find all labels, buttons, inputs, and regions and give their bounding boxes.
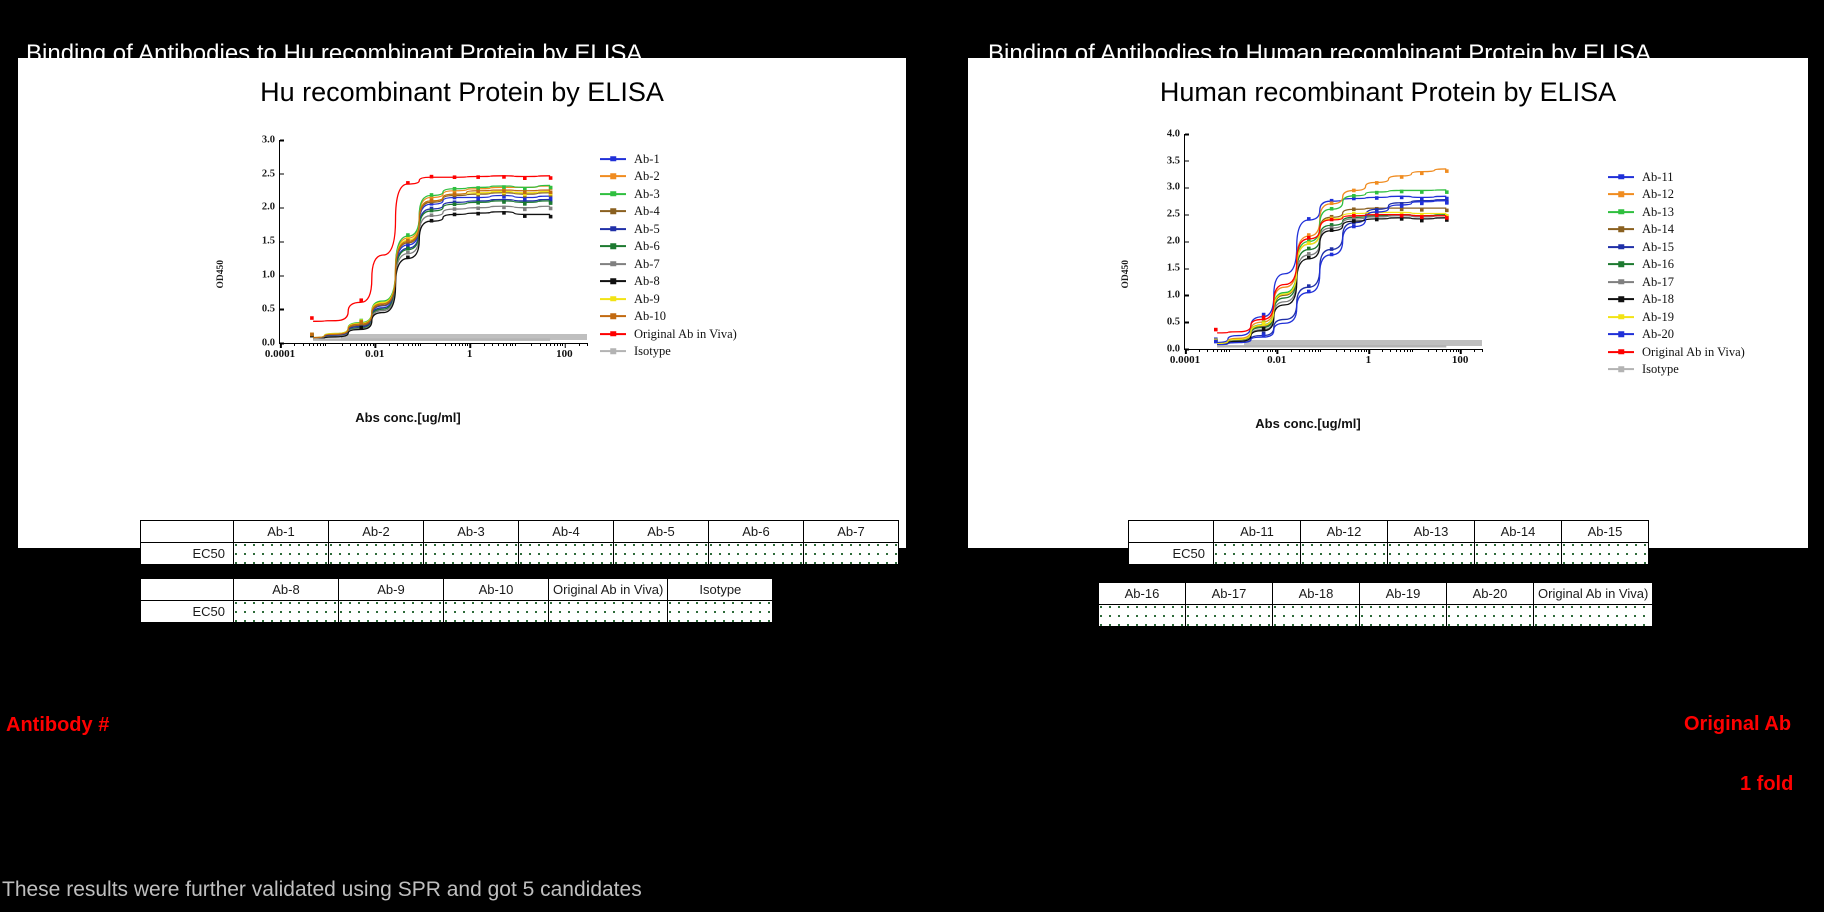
ec50-value-cell (1214, 543, 1301, 565)
data-point (502, 175, 506, 179)
x-minor-tick (1390, 349, 1391, 352)
data-point (1307, 284, 1311, 288)
legend-right: Ab-11Ab-12Ab-13Ab-14Ab-15Ab-16Ab-17Ab-18… (1608, 168, 1745, 378)
legend-label: Ab-1 (634, 153, 660, 166)
ec50-table: Ab-16Ab-17Ab-18Ab-19Ab-20Original Ab in … (1098, 582, 1653, 627)
data-point (1352, 207, 1356, 211)
table-header-cell: Ab-17 (1186, 583, 1273, 605)
x-minor-tick (1318, 349, 1319, 352)
table-header-row: Ab-1Ab-2Ab-3Ab-4Ab-5Ab-6Ab-7 (141, 521, 899, 543)
legend-label: Ab-17 (1642, 276, 1674, 289)
data-point (310, 332, 314, 336)
x-minor-tick (323, 343, 324, 346)
table-header-cell: Ab-18 (1273, 583, 1360, 605)
legend-item[interactable]: Isotype (600, 343, 737, 361)
table-value-row: EC50 (141, 601, 773, 623)
legend-label: Ab-5 (634, 223, 660, 236)
data-point (1400, 214, 1404, 218)
y-tick-label: 2.5 (262, 168, 280, 179)
x-axis-label-right: Abs conc.[ug/ml] (1255, 416, 1360, 431)
data-point (453, 212, 457, 216)
legend-item[interactable]: Ab-17 (1608, 273, 1745, 291)
legend-marker-icon (1608, 278, 1634, 286)
legend-label: Original Ab in Viva) (1642, 346, 1745, 359)
x-minor-tick (1336, 349, 1337, 352)
legend-marker-icon (1608, 208, 1634, 216)
x-minor-tick (554, 343, 555, 346)
data-point (359, 298, 363, 302)
legend-marker-icon (1608, 348, 1634, 356)
data-point (1330, 217, 1334, 221)
x-minor-tick (1366, 349, 1367, 352)
table-corner-cell (1129, 521, 1214, 543)
panel-left-title: Hu recombinant Protein by ELISA (18, 58, 906, 108)
table-header-cell: Ab-9 (339, 579, 444, 601)
table-header-cell: Ab-4 (519, 521, 614, 543)
legend-item[interactable]: Ab-16 (1608, 256, 1745, 274)
legend-left: Ab-1Ab-2Ab-3Ab-4Ab-5Ab-6Ab-7Ab-8Ab-9Ab-1… (600, 150, 737, 360)
annotation-original-ab: Original Ab (1684, 713, 1791, 736)
footer-note: These results were further validated usi… (2, 878, 642, 902)
annotation-antibody: Antibody # (6, 714, 109, 737)
data-point (1445, 201, 1449, 205)
legend-item[interactable]: Ab-13 (1608, 203, 1745, 221)
x-minor-tick (1224, 349, 1225, 352)
ec50-value-cell (1534, 605, 1653, 627)
data-point (1375, 196, 1379, 200)
x-minor-tick (350, 343, 351, 346)
data-point (1445, 190, 1449, 194)
x-minor-tick (455, 343, 456, 346)
legend-label: Ab-7 (634, 258, 660, 271)
y-tick-label: 3.5 (1167, 155, 1185, 166)
x-minor-tick (1364, 349, 1365, 352)
legend-marker-icon (600, 295, 626, 303)
series-curve (1217, 214, 1446, 332)
ec50-value-cell (424, 543, 519, 565)
legend-item[interactable]: Ab-1 (600, 150, 737, 168)
legend-item[interactable]: Original Ab in Viva) (600, 325, 737, 343)
legend-label: Original Ab in Viva) (634, 328, 737, 341)
x-minor-tick (415, 343, 416, 346)
legend-label: Isotype (1642, 363, 1679, 376)
data-point (1307, 217, 1311, 221)
data-point (406, 255, 410, 259)
x-minor-tick (1253, 349, 1254, 352)
x-minor-tick (451, 343, 452, 346)
legend-marker-icon (600, 260, 626, 268)
legend-marker-icon (1608, 260, 1634, 268)
y-tick-label: 2.0 (262, 202, 280, 213)
table-header-cell: Ab-14 (1475, 521, 1562, 543)
panel-right-title: Human recombinant Protein by ELISA (968, 58, 1808, 108)
data-point (523, 214, 527, 218)
data-point (1352, 219, 1356, 223)
x-minor-tick (1382, 349, 1383, 352)
x-minor-tick (389, 343, 390, 346)
x-minor-tick (467, 343, 468, 346)
plot-area-left: 0.00.51.01.52.02.53.00.00010.011100 (279, 140, 587, 344)
x-minor-tick (1267, 349, 1268, 352)
x-minor-tick (317, 343, 318, 346)
legend-item[interactable]: Ab-8 (600, 273, 737, 291)
data-point (1307, 246, 1311, 250)
x-minor-tick (1410, 349, 1411, 352)
x-minor-tick (484, 343, 485, 346)
legend-label: Ab-8 (634, 275, 660, 288)
legend-marker-icon (600, 207, 626, 215)
data-point (502, 185, 506, 189)
legend-label: Ab-3 (634, 188, 660, 201)
ec50-table: Ab-1Ab-2Ab-3Ab-4Ab-5Ab-6Ab-7EC50 (140, 520, 899, 565)
ec50-row-label: EC50 (141, 543, 234, 565)
legend-item[interactable]: Ab-19 (1608, 308, 1745, 326)
table-corner-cell (141, 579, 234, 601)
ec50-table: Ab-8Ab-9Ab-10Original Ab in Viva)Isotype… (140, 578, 773, 623)
data-point (1400, 217, 1404, 221)
data-point (430, 208, 434, 212)
legend-item[interactable]: Isotype (1608, 361, 1745, 379)
x-minor-tick (403, 343, 404, 346)
table-header-cell: Ab-2 (329, 521, 424, 543)
x-tick-label: 100 (556, 348, 573, 360)
ec50-value-cell (709, 543, 804, 565)
legend-item[interactable]: Ab-15 (1608, 238, 1745, 256)
legend-label: Ab-4 (634, 205, 660, 218)
data-point (523, 207, 527, 211)
x-minor-tick (587, 343, 588, 346)
legend-marker-icon (600, 172, 626, 180)
data-point (1375, 213, 1379, 217)
table-value-row: EC50 (1129, 543, 1649, 565)
data-point (359, 320, 363, 324)
table-header-row: Ab-16Ab-17Ab-18Ab-19Ab-20Original Ab in … (1099, 583, 1653, 605)
ec50-value-cell (234, 543, 329, 565)
x-minor-tick (1404, 349, 1405, 352)
chart-block-left: OD450 0.00.51.01.52.02.53.00.00010.01110… (18, 122, 906, 412)
x-minor-tick (1270, 349, 1271, 352)
y-axis-label-right: OD450 (1121, 260, 1131, 289)
legend-item[interactable]: Ab-20 (1608, 326, 1745, 344)
x-minor-tick (303, 343, 304, 346)
data-point (1307, 252, 1311, 256)
series-curve (313, 206, 550, 339)
y-tick-label: 3.0 (1167, 182, 1185, 193)
x-minor-tick (397, 343, 398, 346)
data-point (1420, 218, 1424, 222)
table-value-row: EC50 (141, 543, 899, 565)
data-point (1445, 216, 1449, 220)
x-minor-tick (1358, 349, 1359, 352)
ec50-table: Ab-11Ab-12Ab-13Ab-14Ab-15EC50 (1128, 520, 1649, 565)
data-point (1420, 215, 1424, 219)
x-minor-tick (1436, 349, 1437, 352)
ec50-value-cell (329, 543, 424, 565)
x-minor-tick (531, 343, 532, 346)
ec50-value-cell (668, 601, 773, 623)
ec50-value-cell (1562, 543, 1649, 565)
x-minor-tick (462, 343, 463, 346)
heading-right-fragment: Binding of Antibodies to Human recombina… (988, 40, 1651, 58)
data-point (453, 175, 457, 179)
table-header-cell: Ab-19 (1360, 583, 1447, 605)
table-header-cell: Ab-15 (1562, 521, 1649, 543)
legend-label: Ab-16 (1642, 258, 1674, 271)
table-header-cell: Original Ab in Viva) (549, 579, 668, 601)
x-minor-tick (1400, 349, 1401, 352)
ec50-value-cell (1475, 543, 1562, 565)
legend-item[interactable]: Ab-11 (1608, 168, 1745, 186)
data-point (476, 186, 480, 190)
legend-item[interactable]: Ab-4 (600, 203, 737, 221)
data-point (1330, 201, 1334, 205)
legend-marker-icon (1608, 173, 1634, 181)
legend-item[interactable]: Ab-7 (600, 255, 737, 273)
data-point (430, 219, 434, 223)
panel-left: Hu recombinant Protein by ELISA OD450 0.… (18, 58, 906, 548)
x-minor-tick (1245, 349, 1246, 352)
table-corner-cell (141, 521, 234, 543)
x-minor-tick (1217, 349, 1218, 352)
table-header-cell: Ab-8 (234, 579, 339, 601)
table-header-cell: Ab-5 (614, 521, 709, 543)
annotation-fold: 1 fold (1740, 773, 1793, 796)
data-point (1375, 191, 1379, 195)
data-point (430, 213, 434, 217)
y-tick-label: 2.0 (1167, 236, 1185, 247)
x-minor-tick (1309, 349, 1310, 352)
data-point (1400, 204, 1404, 208)
legend-item[interactable]: Ab-10 (600, 308, 737, 326)
x-tick-label: 0.0001 (1170, 354, 1200, 366)
data-point (1352, 214, 1356, 218)
x-minor-tick (1304, 349, 1305, 352)
x-minor-tick (506, 343, 507, 346)
legend-item[interactable]: Ab-6 (600, 238, 737, 256)
data-point (1352, 188, 1356, 192)
x-minor-tick (370, 343, 371, 346)
x-minor-tick (294, 343, 295, 346)
x-minor-tick (546, 343, 547, 346)
x-minor-tick (1229, 349, 1230, 352)
x-minor-tick (320, 343, 321, 346)
x-minor-tick (503, 343, 504, 346)
x-minor-tick (1344, 349, 1345, 352)
data-point (453, 187, 457, 191)
data-point (1330, 207, 1334, 211)
data-point (1262, 321, 1266, 325)
legend-item[interactable]: Ab-18 (1608, 291, 1745, 309)
data-point (430, 193, 434, 197)
data-point (406, 181, 410, 185)
x-minor-tick (560, 343, 561, 346)
legend-item[interactable]: Original Ab in Viva) (1608, 343, 1745, 361)
data-point (1445, 169, 1449, 173)
x-minor-tick (361, 343, 362, 346)
x-minor-tick (1355, 349, 1356, 352)
legend-label: Isotype (634, 345, 671, 358)
x-minor-tick (445, 343, 446, 346)
ec50-value-cell (339, 601, 444, 623)
data-point (1400, 175, 1404, 179)
legend-marker-icon (600, 225, 626, 233)
x-minor-tick (540, 343, 541, 346)
data-point (406, 246, 410, 250)
x-tick-label: 0.01 (1267, 354, 1286, 366)
table-value-row (1099, 605, 1653, 627)
data-point (430, 198, 434, 202)
data-point (1420, 201, 1424, 205)
legend-marker-icon (600, 330, 626, 338)
x-minor-tick (309, 343, 310, 346)
x-minor-tick (356, 343, 357, 346)
data-point (523, 202, 527, 206)
ec50-table-left-1: Ab-1Ab-2Ab-3Ab-4Ab-5Ab-6Ab-7EC50 (140, 520, 899, 565)
x-minor-tick (510, 343, 511, 346)
ec50-row-label: EC50 (141, 601, 234, 623)
y-tick-label: 0.5 (1167, 316, 1185, 327)
x-tick-label: 1 (467, 348, 473, 360)
legend-item[interactable]: Ab-5 (600, 220, 737, 238)
y-tick-label: 0.0 (1167, 343, 1185, 354)
legend-label: Ab-10 (634, 310, 666, 323)
data-point (549, 201, 553, 205)
legend-label: Ab-20 (1642, 328, 1674, 341)
x-minor-tick (1412, 349, 1413, 352)
x-minor-tick (1456, 349, 1457, 352)
heading-left-fragment: Binding of Antibodies to Hu recombinant … (26, 40, 642, 58)
x-minor-tick (1446, 349, 1447, 352)
legend-item[interactable]: Ab-2 (600, 168, 737, 186)
y-tick-label: 1.5 (1167, 263, 1185, 274)
legend-item[interactable]: Ab-9 (600, 290, 737, 308)
x-minor-tick (465, 343, 466, 346)
table-header-cell: Ab-6 (709, 521, 804, 543)
table-header-cell: Ab-16 (1099, 583, 1186, 605)
ec50-table-right-2: Ab-16Ab-17Ab-18Ab-19Ab-20Original Ab in … (1098, 582, 1653, 627)
x-minor-tick (1291, 349, 1292, 352)
data-point (406, 238, 410, 242)
x-minor-tick (418, 343, 419, 346)
legend-label: Ab-12 (1642, 188, 1674, 201)
y-tick-label: 1.0 (1167, 289, 1185, 300)
curves-left (280, 140, 587, 343)
x-minor-tick (1272, 349, 1273, 352)
legend-label: Ab-9 (634, 293, 660, 306)
x-minor-tick (1396, 349, 1397, 352)
data-point (476, 196, 480, 200)
chart-elisa-right: OD450 0.00.51.01.52.02.53.03.54.00.00010… (1128, 124, 1488, 396)
data-point (406, 250, 410, 254)
data-point (1352, 224, 1356, 228)
x-minor-tick (1263, 349, 1264, 352)
chart-elisa-left: OD450 0.00.51.01.52.02.53.00.00010.01110… (223, 130, 593, 390)
legend-item[interactable]: Ab-14 (1608, 221, 1745, 239)
x-minor-tick (515, 343, 516, 346)
x-minor-tick (313, 343, 314, 346)
ec50-value-cell (1388, 543, 1475, 565)
ec50-value-cell (614, 543, 709, 565)
data-point (1375, 181, 1379, 185)
legend-item[interactable]: Ab-3 (600, 185, 737, 203)
data-point (1262, 326, 1266, 330)
ec50-value-cell (1099, 605, 1186, 627)
x-minor-tick (498, 343, 499, 346)
x-minor-tick (1453, 349, 1454, 352)
legend-label: Ab-11 (1642, 171, 1673, 184)
x-minor-tick (1350, 349, 1351, 352)
data-point (453, 192, 457, 196)
series-curve (313, 211, 550, 338)
data-point (476, 212, 480, 216)
y-tick-label: 1.5 (262, 236, 280, 247)
x-minor-tick (412, 343, 413, 346)
x-minor-tick (1320, 349, 1321, 352)
ec50-table-left-2: Ab-8Ab-9Ab-10Original Ab in Viva)Isotype… (140, 578, 773, 623)
slide-heading-strip: Binding of Antibodies to Hu recombinant … (0, 0, 1824, 58)
data-point (1307, 241, 1311, 245)
data-point (406, 233, 410, 237)
x-minor-tick (1226, 349, 1227, 352)
legend-marker-icon (600, 347, 626, 355)
data-point (1214, 327, 1218, 331)
x-minor-tick (1221, 349, 1222, 352)
x-minor-tick (1450, 349, 1451, 352)
x-minor-tick (364, 343, 365, 346)
x-minor-tick (1312, 349, 1313, 352)
legend-marker-icon (600, 277, 626, 285)
ec50-value-cell (804, 543, 899, 565)
data-point (1330, 228, 1334, 232)
data-point (453, 207, 457, 211)
ec50-value-cell (1301, 543, 1388, 565)
ec50-value-cell (1447, 605, 1534, 627)
legend-item[interactable]: Ab-12 (1608, 186, 1745, 204)
x-minor-tick (408, 343, 409, 346)
legend-marker-icon (1608, 313, 1634, 321)
data-point (549, 206, 553, 210)
legend-marker-icon (600, 242, 626, 250)
data-point (1420, 171, 1424, 175)
y-tick-label: 4.0 (1167, 128, 1185, 139)
data-point (523, 176, 527, 180)
table-header-cell: Ab-13 (1388, 521, 1475, 543)
ec50-row-label: EC50 (1129, 543, 1214, 565)
x-minor-tick (1315, 349, 1316, 352)
data-point (1330, 247, 1334, 251)
x-tick-label: 0.0001 (265, 348, 295, 360)
y-tick-label: 1.0 (262, 270, 280, 281)
table-header-cell: Isotype (668, 579, 773, 601)
data-point (549, 185, 553, 189)
table-header-cell: Original Ab in Viva) (1534, 583, 1653, 605)
data-point (523, 190, 527, 194)
x-minor-tick (1275, 349, 1276, 352)
table-header-cell: Ab-11 (1214, 521, 1301, 543)
x-minor-tick (1442, 349, 1443, 352)
data-point (310, 316, 314, 320)
ec50-value-cell (1186, 605, 1273, 627)
legend-marker-icon (1608, 225, 1634, 233)
legend-label: Ab-18 (1642, 293, 1674, 306)
data-point (1375, 217, 1379, 221)
data-point (1400, 189, 1404, 193)
data-point (1262, 333, 1266, 337)
data-point (1214, 339, 1218, 343)
legend-marker-icon (600, 155, 626, 163)
table-header-cell: Ab-1 (234, 521, 329, 543)
y-axis-label-left: OD450 (216, 260, 226, 289)
